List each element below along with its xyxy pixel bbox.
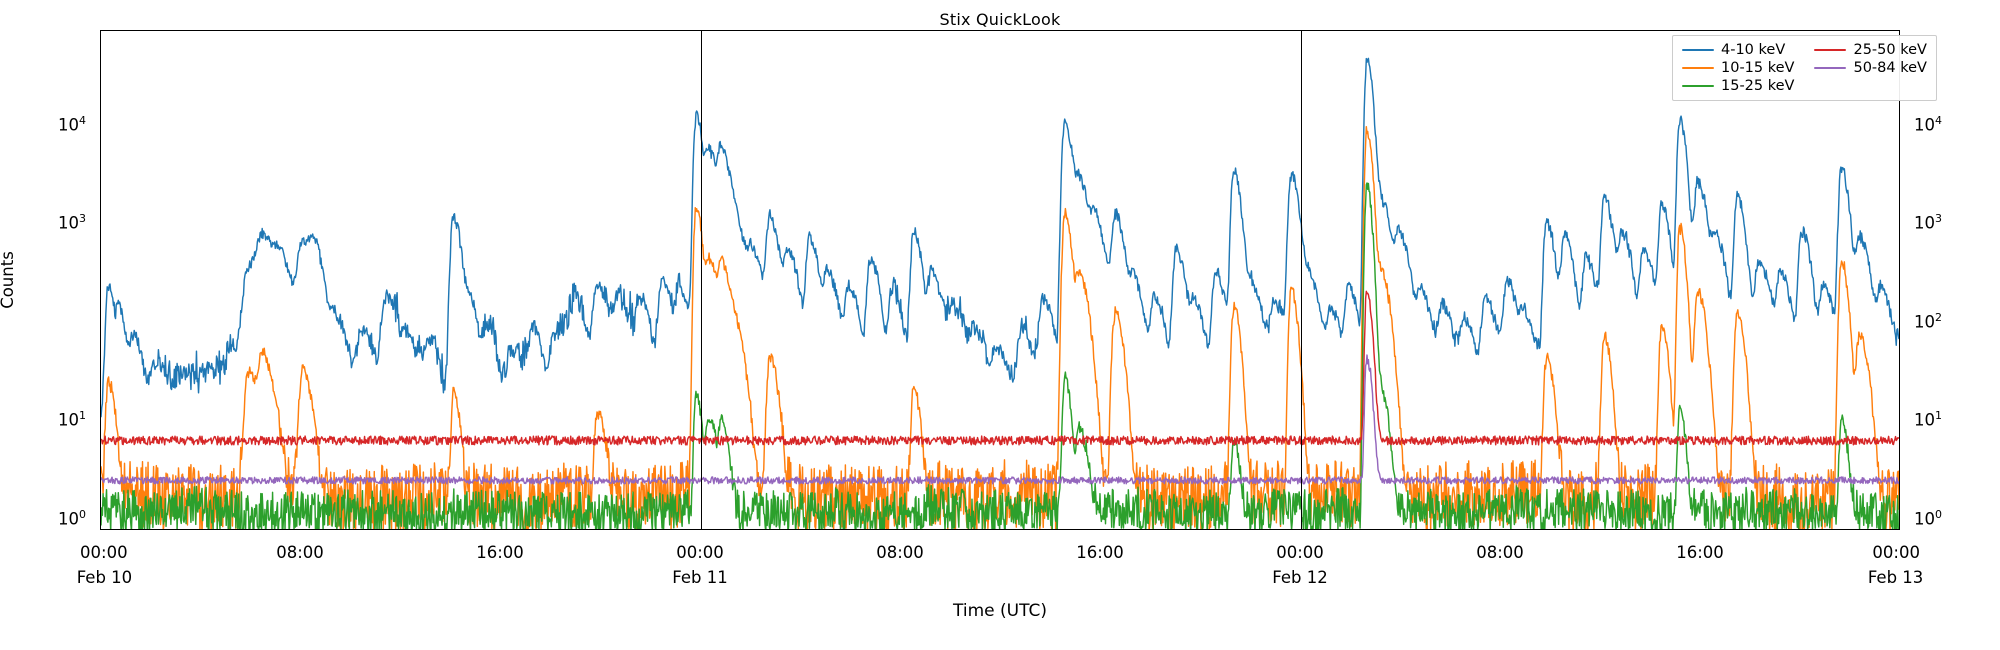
y-tick-minor	[100, 66, 101, 67]
x-tick-label-time: 08:00	[876, 543, 924, 562]
y-tick-major-right	[1899, 420, 1900, 421]
x-tick-major-top	[1501, 30, 1502, 31]
y-tick-minor	[100, 147, 101, 148]
y-tick-minor	[100, 472, 101, 473]
x-tick-major-top	[901, 30, 902, 31]
y-tick-exponent: 4	[79, 114, 86, 127]
chart-title: Stix QuickLook	[0, 10, 2000, 29]
legend-item-15-25-kev[interactable]: 15-25 keV	[1682, 78, 1794, 94]
y-tick-minor	[100, 326, 101, 327]
y-tick-minor	[100, 489, 101, 490]
y-tick-minor-right	[1899, 233, 1900, 234]
legend-label: 10-15 keV	[1721, 60, 1794, 76]
y-tick-minor-right	[1899, 134, 1900, 135]
x-tick-minor	[651, 529, 652, 530]
x-tick-minor	[951, 529, 952, 530]
legend-spacer	[1814, 78, 1926, 94]
y-tick-minor	[100, 56, 101, 57]
day-separator-1	[701, 31, 702, 529]
x-tick-major	[101, 529, 102, 530]
y-tick-minor	[100, 228, 101, 229]
y-tick-minor	[100, 459, 101, 460]
x-tick-label-time: 16:00	[1676, 543, 1724, 562]
x-tick-label-time: 00:00	[80, 543, 128, 562]
y-tick-minor	[100, 48, 101, 49]
y-tick-minor-right	[1899, 275, 1900, 276]
y-tick-label-right: 103	[1914, 212, 1942, 233]
x-tick-major	[701, 529, 702, 530]
stix-quicklook-figure: Stix QuickLook SolarMonitor.org : 05-Mar…	[0, 0, 2000, 650]
y-tick-minor-right	[1899, 523, 1900, 524]
y-tick-minor-right	[1899, 147, 1900, 148]
y-tick-label-right: 102	[1914, 311, 1942, 332]
y-tick-major	[100, 125, 101, 126]
x-tick-minor	[1651, 529, 1652, 530]
x-axis-title: Time (UTC)	[0, 601, 2000, 621]
y-tick-major	[100, 420, 101, 421]
day-separator-2	[1301, 31, 1302, 529]
y-axis-title: Counts	[0, 251, 17, 309]
y-tick-minor-right	[1899, 351, 1900, 352]
x-tick-minor	[851, 529, 852, 530]
y-tick-mantissa: 10	[58, 214, 79, 233]
legend-label: 15-25 keV	[1721, 78, 1794, 94]
y-tick-major	[100, 223, 101, 224]
series-line-4-10-kev	[101, 58, 1899, 417]
x-tick-minor	[1751, 529, 1752, 530]
x-tick-minor	[1851, 529, 1852, 530]
y-tick-minor	[100, 129, 101, 130]
y-tick-minor	[100, 391, 101, 392]
x-tick-minor	[1451, 529, 1452, 530]
y-tick-minor	[100, 31, 101, 32]
y-tick-minor-right	[1899, 425, 1900, 426]
x-tick-minor	[451, 529, 452, 530]
y-tick-minor	[100, 436, 101, 437]
x-tick-minor	[1401, 529, 1402, 530]
x-tick-minor	[1601, 529, 1602, 530]
y-tick-minor	[100, 275, 101, 276]
y-tick-mantissa: 10	[58, 115, 79, 134]
y-tick-minor	[100, 176, 101, 177]
legend-swatch-icon	[1814, 49, 1846, 52]
y-tick-minor-right	[1899, 263, 1900, 264]
y-tick-minor	[100, 361, 101, 362]
x-tick-minor	[1151, 529, 1152, 530]
x-tick-label-time: 16:00	[1076, 543, 1124, 562]
x-tick-minor	[201, 529, 202, 530]
legend-swatch-icon	[1682, 67, 1714, 70]
x-tick-label-date: Feb 12	[1272, 568, 1327, 587]
y-tick-minor	[100, 134, 101, 135]
y-tick-major	[100, 519, 101, 520]
y-tick-minor	[100, 194, 101, 195]
y-tick-major-right	[1899, 519, 1900, 520]
y-tick-minor	[100, 140, 101, 141]
x-tick-major-top	[501, 30, 502, 31]
y-tick-exponent: 0	[79, 507, 86, 520]
y-tick-minor	[100, 337, 101, 338]
x-tick-minor	[251, 529, 252, 530]
y-tick-label-right: 101	[1914, 409, 1942, 430]
x-tick-major	[501, 529, 502, 530]
y-tick-minor-right	[1899, 292, 1900, 293]
x-tick-label-date: Feb 10	[77, 568, 132, 587]
x-tick-minor	[401, 529, 402, 530]
y-tick-mantissa: 10	[58, 411, 79, 430]
y-tick-minor-right	[1899, 459, 1900, 460]
x-tick-label-time: 00:00	[1872, 543, 1920, 562]
y-tick-minor	[100, 450, 101, 451]
y-tick-minor-right	[1899, 391, 1900, 392]
legend-label: 4-10 keV	[1721, 42, 1785, 58]
legend-swatch-icon	[1814, 67, 1846, 70]
y-tick-mantissa: 10	[58, 509, 79, 528]
y-tick-minor-right	[1899, 344, 1900, 345]
y-tick-mantissa: 10	[1914, 509, 1935, 528]
y-tick-mantissa: 10	[1914, 312, 1935, 331]
x-tick-minor	[1551, 529, 1552, 530]
y-tick-minor-right	[1899, 253, 1900, 254]
legend-item-50-84-kev[interactable]: 50-84 keV	[1814, 60, 1926, 76]
y-tick-minor	[100, 351, 101, 352]
y-tick-minor-right	[1899, 331, 1900, 332]
x-tick-minor	[601, 529, 602, 530]
x-tick-minor	[801, 529, 802, 530]
x-tick-minor	[1801, 529, 1802, 530]
x-tick-label-time: 00:00	[1276, 543, 1324, 562]
y-tick-exponent: 3	[79, 212, 86, 225]
x-tick-major	[1501, 529, 1502, 530]
y-tick-minor	[100, 245, 101, 246]
y-tick-mantissa: 10	[1914, 411, 1935, 430]
legend-swatch-icon	[1682, 85, 1714, 88]
y-tick-mantissa: 10	[1914, 115, 1935, 134]
x-tick-label-time: 00:00	[676, 543, 724, 562]
y-tick-minor-right	[1899, 326, 1900, 327]
y-tick-minor-right	[1899, 450, 1900, 451]
legend-label: 50-84 keV	[1853, 60, 1926, 76]
legend-item-4-10-kev[interactable]: 4-10 keV	[1682, 42, 1794, 58]
legend-item-10-15-kev[interactable]: 10-15 keV	[1682, 60, 1794, 76]
y-tick-major-right	[1899, 223, 1900, 224]
y-tick-minor-right	[1899, 176, 1900, 177]
y-tick-minor-right	[1899, 430, 1900, 431]
x-tick-minor	[151, 529, 152, 530]
x-tick-major-top	[1101, 30, 1102, 31]
y-tick-minor-right	[1899, 155, 1900, 156]
x-tick-major	[1301, 529, 1302, 530]
y-tick-exponent: 1	[1935, 409, 1942, 422]
x-tick-label-time: 16:00	[476, 543, 524, 562]
y-tick-minor	[100, 42, 101, 43]
x-tick-minor	[351, 529, 352, 530]
y-tick-minor	[100, 78, 101, 79]
y-tick-minor	[100, 253, 101, 254]
y-tick-minor-right	[1899, 472, 1900, 473]
y-tick-minor-right	[1899, 164, 1900, 165]
y-tick-minor-right	[1899, 528, 1900, 529]
y-tick-minor-right	[1899, 436, 1900, 437]
y-tick-minor	[100, 263, 101, 264]
x-tick-major-top	[1301, 30, 1302, 31]
y-tick-minor-right	[1899, 31, 1900, 32]
y-tick-minor	[100, 95, 101, 96]
y-tick-minor-right	[1899, 194, 1900, 195]
y-tick-exponent: 2	[1935, 311, 1942, 324]
x-tick-label-date: Feb 11	[672, 568, 727, 587]
series-line-50-84-kev	[101, 355, 1899, 484]
y-tick-minor	[100, 36, 101, 37]
y-tick-minor-right	[1899, 129, 1900, 130]
y-tick-minor-right	[1899, 140, 1900, 141]
plot-axes: SolarMonitor.org : 05-Mar-2026 00:31 UTC	[100, 30, 1900, 530]
y-tick-label-left: 100	[58, 507, 86, 528]
x-tick-major	[1101, 529, 1102, 530]
y-tick-exponent: 4	[1935, 114, 1942, 127]
y-tick-minor	[100, 344, 101, 345]
y-tick-minor-right	[1899, 489, 1900, 490]
x-tick-major	[901, 529, 902, 530]
x-tick-major-top	[701, 30, 702, 31]
x-tick-minor	[1001, 529, 1002, 530]
y-tick-minor	[100, 523, 101, 524]
y-tick-minor-right	[1899, 337, 1900, 338]
y-tick-minor	[100, 233, 101, 234]
chart-legend: 4-10 keV25-50 keV10-15 keV50-84 keV15-25…	[1672, 35, 1937, 101]
x-tick-major-top	[1701, 30, 1702, 31]
y-tick-minor	[100, 292, 101, 293]
x-tick-minor	[1051, 529, 1052, 530]
y-tick-exponent: 3	[1935, 212, 1942, 225]
y-tick-label-left: 101	[58, 409, 86, 430]
legend-item-25-50-kev[interactable]: 25-50 keV	[1814, 42, 1926, 58]
y-tick-minor-right	[1899, 239, 1900, 240]
x-tick-label-date: Feb 13	[1868, 568, 1923, 587]
y-tick-minor	[100, 331, 101, 332]
y-tick-minor	[100, 155, 101, 156]
y-tick-label-left: 103	[58, 212, 86, 233]
y-tick-minor	[100, 164, 101, 165]
legend-swatch-icon	[1682, 49, 1714, 52]
x-tick-label-time: 08:00	[276, 543, 324, 562]
y-tick-major	[100, 322, 101, 323]
y-tick-minor	[100, 430, 101, 431]
y-tick-minor	[100, 425, 101, 426]
y-tick-minor-right	[1899, 442, 1900, 443]
y-tick-exponent: 1	[79, 409, 86, 422]
y-tick-minor	[100, 239, 101, 240]
x-tick-minor	[1201, 529, 1202, 530]
legend-label: 25-50 keV	[1853, 42, 1926, 58]
y-tick-minor-right	[1899, 228, 1900, 229]
y-tick-minor-right	[1899, 245, 1900, 246]
x-tick-major-top	[101, 30, 102, 31]
series-line-25-50-kev	[101, 291, 1899, 444]
y-tick-minor	[100, 373, 101, 374]
x-tick-minor	[751, 529, 752, 530]
x-tick-label-time: 08:00	[1476, 543, 1524, 562]
y-tick-minor	[100, 442, 101, 443]
x-tick-major	[301, 529, 302, 530]
series-line-10-15-kev	[101, 127, 1899, 529]
x-tick-minor	[551, 529, 552, 530]
y-tick-label-right: 100	[1914, 507, 1942, 528]
y-tick-label-right: 104	[1914, 114, 1942, 135]
y-tick-minor-right	[1899, 361, 1900, 362]
y-tick-label-left: 104	[58, 114, 86, 135]
y-tick-exponent: 0	[1935, 507, 1942, 520]
y-tick-major-right	[1899, 125, 1900, 126]
plot-canvas	[101, 31, 1899, 529]
x-tick-minor	[1251, 529, 1252, 530]
x-tick-minor	[1351, 529, 1352, 530]
y-tick-major-right	[1899, 322, 1900, 323]
y-tick-mantissa: 10	[1914, 214, 1935, 233]
x-tick-major	[1701, 529, 1702, 530]
y-tick-minor-right	[1899, 373, 1900, 374]
x-tick-major-top	[301, 30, 302, 31]
